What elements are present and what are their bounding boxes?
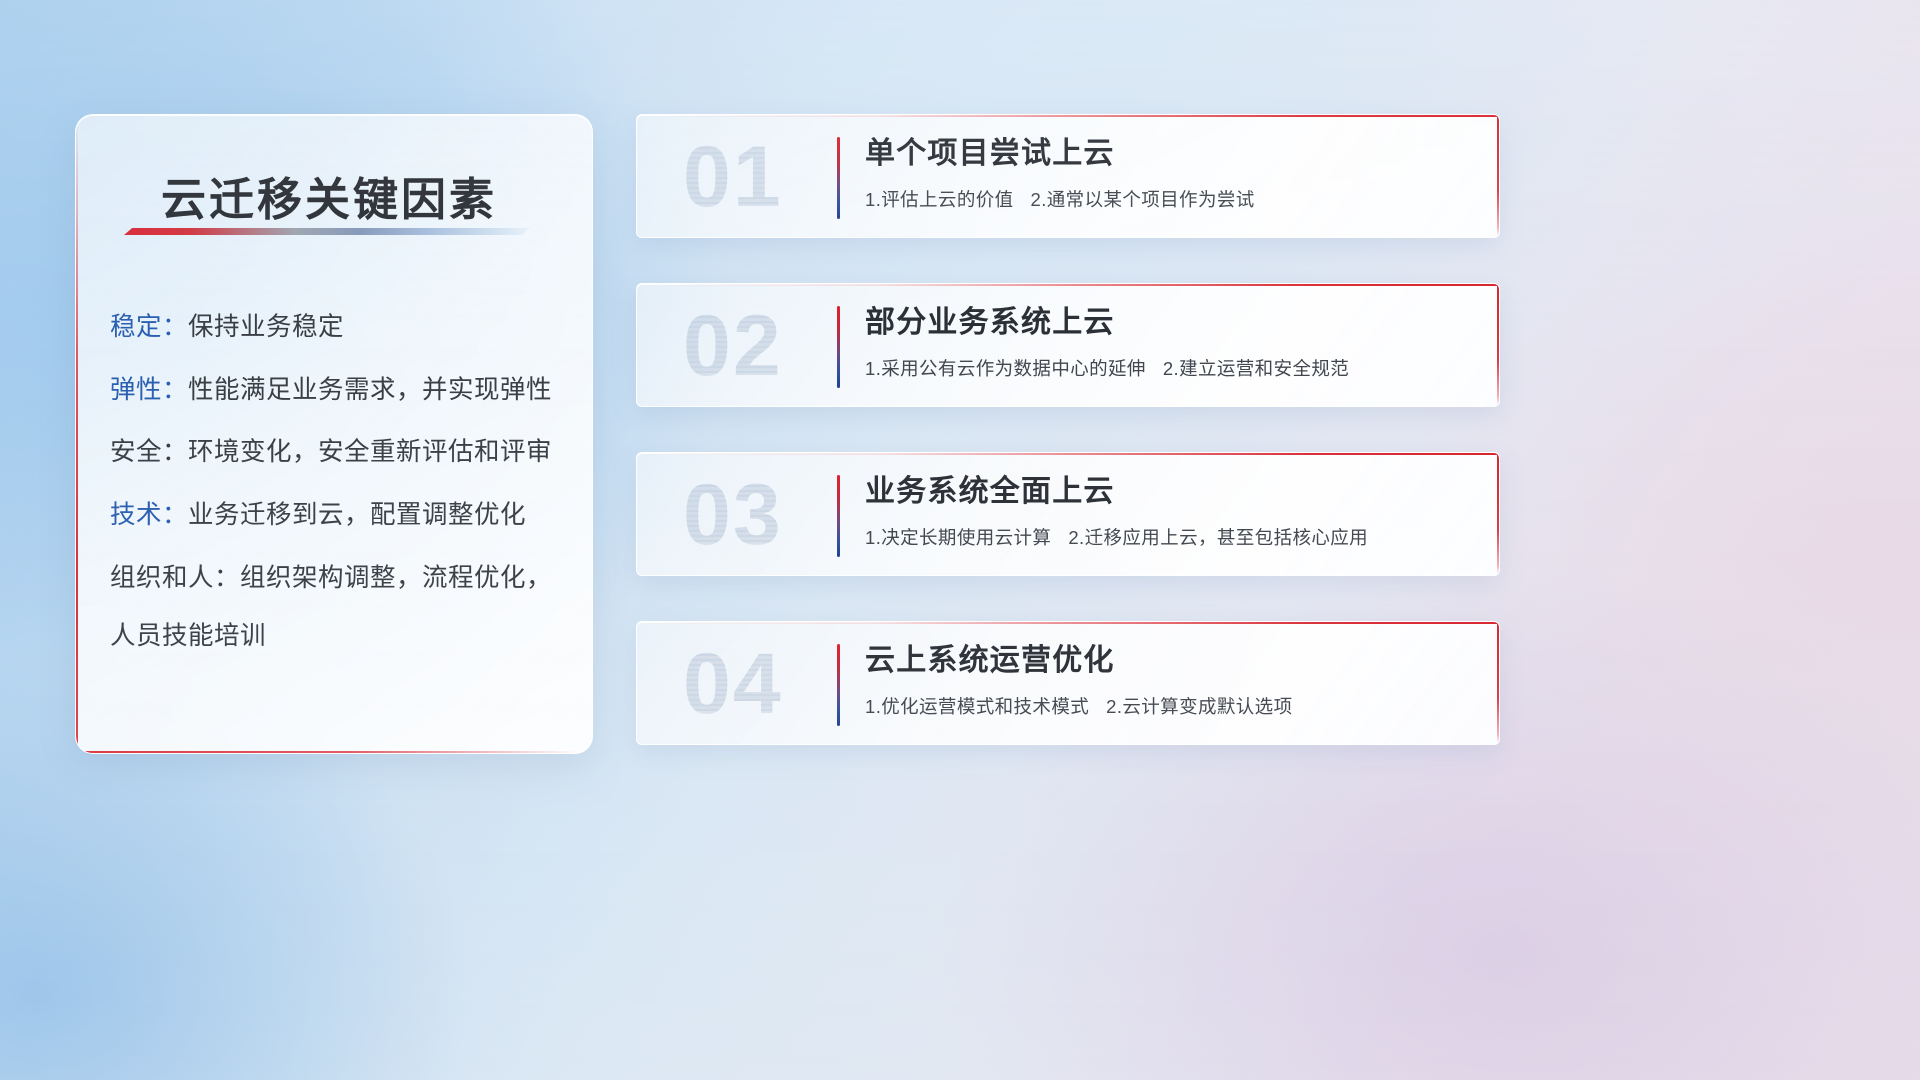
card-body: 云上系统运营优化 1.优化运营模式和技术模式2.云计算变成默认选项 <box>865 642 1473 719</box>
factor-text: 性能满足业务需求，并实现弹性 <box>188 376 552 404</box>
card-description-part-2: 2.通常以某个项目作为尝试 <box>1031 189 1255 210</box>
stage-card[interactable]: 04 云上系统运营优化 1.优化运营模式和技术模式2.云计算变成默认选项 <box>636 621 1500 745</box>
card-divider <box>837 137 840 219</box>
factor-text: 环境变化，安全重新评估和评审 <box>188 438 552 466</box>
factor-text: 组织架构调整，流程优化， <box>240 564 552 592</box>
card-description: 1.优化运营模式和技术模式2.云计算变成默认选项 <box>865 693 1473 719</box>
card-description-part-2: 2.迁移应用上云，甚至包括核心应用 <box>1068 527 1368 548</box>
list-item: 技术：业务迁移到云，配置调整优化 <box>110 499 568 533</box>
factor-label: 组织和人： <box>110 564 240 592</box>
card-description-part-1: 1.采用公有云作为数据中心的延伸 <box>865 358 1146 379</box>
factor-label: 弹性： <box>110 376 188 404</box>
key-factors-panel: 云迁移关键因素 稳定：保持业务稳定 弹性：性能满足业务需求，并实现弹性 安全：环… <box>75 114 593 754</box>
stage-card-list: 01 单个项目尝试上云 1.评估上云的价值2.通常以某个项目作为尝试 02 部分… <box>636 114 1500 790</box>
card-divider <box>837 475 840 557</box>
card-description-part-1: 1.评估上云的价值 <box>865 189 1014 210</box>
slide-canvas: 云迁移关键因素 稳定：保持业务稳定 弹性：性能满足业务需求，并实现弹性 安全：环… <box>0 0 1920 1080</box>
stage-number: 01 <box>683 125 823 229</box>
list-item: 安全：环境变化，安全重新评估和评审 <box>110 436 568 470</box>
stage-card[interactable]: 02 部分业务系统上云 1.采用公有云作为数据中心的延伸2.建立运营和安全规范 <box>636 283 1500 407</box>
stage-number: 04 <box>683 632 823 736</box>
factor-text: 业务迁移到云，配置调整优化 <box>188 501 526 529</box>
factor-list: 稳定：保持业务稳定 弹性：性能满足业务需求，并实现弹性 安全：环境变化，安全重新… <box>110 311 568 681</box>
list-item: 弹性：性能满足业务需求，并实现弹性 <box>110 374 568 408</box>
factor-label: 安全： <box>110 438 188 466</box>
stage-card[interactable]: 01 单个项目尝试上云 1.评估上云的价值2.通常以某个项目作为尝试 <box>636 114 1500 238</box>
card-divider <box>837 306 840 388</box>
list-item: 组织和人：组织架构调整，流程优化， <box>110 562 568 596</box>
card-divider <box>837 644 840 726</box>
card-description: 1.评估上云的价值2.通常以某个项目作为尝试 <box>865 186 1473 212</box>
card-body: 单个项目尝试上云 1.评估上云的价值2.通常以某个项目作为尝试 <box>865 135 1473 212</box>
list-item: 稳定：保持业务稳定 <box>110 311 568 345</box>
title-underline-rule <box>124 228 530 235</box>
factor-text: 保持业务稳定 <box>188 313 344 341</box>
stage-card[interactable]: 03 业务系统全面上云 1.决定长期使用云计算2.迁移应用上云，甚至包括核心应用 <box>636 452 1500 576</box>
card-heading: 单个项目尝试上云 <box>865 135 1473 173</box>
card-description-part-1: 1.决定长期使用云计算 <box>865 527 1051 548</box>
factor-text-continuation: 人员技能培训 <box>110 615 568 652</box>
card-heading: 部分业务系统上云 <box>865 304 1473 342</box>
page-title: 云迁移关键因素 <box>161 163 497 228</box>
stage-number: 02 <box>683 294 823 398</box>
card-description-part-2: 2.建立运营和安全规范 <box>1163 358 1349 379</box>
card-body: 部分业务系统上云 1.采用公有云作为数据中心的延伸2.建立运营和安全规范 <box>865 304 1473 381</box>
card-description: 1.决定长期使用云计算2.迁移应用上云，甚至包括核心应用 <box>865 524 1473 550</box>
stage-number: 03 <box>683 463 823 567</box>
card-heading: 云上系统运营优化 <box>865 642 1473 680</box>
card-description: 1.采用公有云作为数据中心的延伸2.建立运营和安全规范 <box>865 355 1473 381</box>
factor-label: 稳定： <box>110 313 188 341</box>
factor-label: 技术： <box>110 501 188 529</box>
card-body: 业务系统全面上云 1.决定长期使用云计算2.迁移应用上云，甚至包括核心应用 <box>865 473 1473 550</box>
card-description-part-2: 2.云计算变成默认选项 <box>1106 696 1292 717</box>
card-description-part-1: 1.优化运营模式和技术模式 <box>865 696 1089 717</box>
card-heading: 业务系统全面上云 <box>865 473 1473 511</box>
